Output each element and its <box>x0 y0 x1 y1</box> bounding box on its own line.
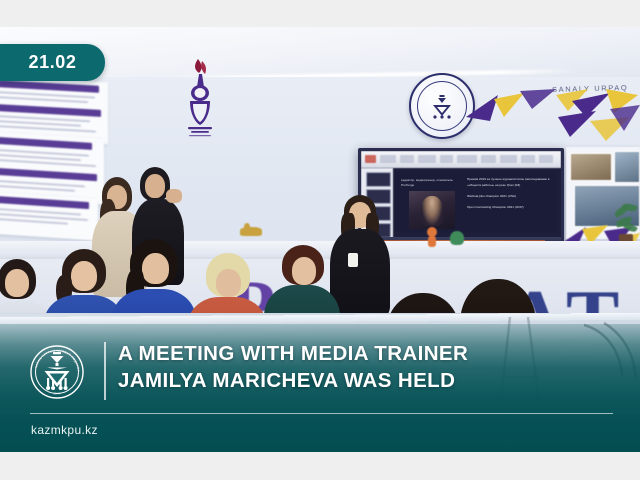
ledge-ornament <box>238 223 264 243</box>
crest-glyph-icon <box>429 94 455 120</box>
date-badge-label: 21.02 <box>28 52 76 73</box>
title-banner: ҚАЗАҚ ҰЛТТЫҚ ҚЫЗДАР ПЕДАГОГИКАЛЫҚ УНИВЕР… <box>0 324 640 452</box>
coffee-cup <box>348 253 358 267</box>
website-url[interactable]: kazmkpu.kz <box>31 423 98 437</box>
svg-text:1944: 1944 <box>54 392 61 396</box>
news-card-image: SANALY URPAQ <box>0 27 640 452</box>
powerpoint-ribbon <box>361 151 561 168</box>
slide-bullets: Премия 2019 за лучшее журналистское расс… <box>467 177 553 216</box>
slide-bullet: Премия 2019 за лучшее журналистское расс… <box>467 177 553 189</box>
slide-portrait-photo <box>409 191 455 229</box>
slide-caption: редактор, медиатренер, основатель ProTen… <box>401 178 461 187</box>
slide-bullet: Webinar.plus champion 2021 (USA) <box>467 194 553 200</box>
page-canvas: SANALY URPAQ <box>0 0 640 480</box>
banner-rule <box>30 413 613 414</box>
page-title: A MEETING WITH MEDIA TRAINER JAMILYA MAR… <box>118 340 618 394</box>
title-line-1: A MEETING WITH MEDIA TRAINER <box>118 340 618 367</box>
wall-decal-flame-icon <box>178 57 222 143</box>
ledge-toy-figure <box>448 229 466 247</box>
title-line-2: JAMILYA MARICHEVA WAS HELD <box>118 367 618 394</box>
slide-bullet: Open Contracting Champion 2021 (OCP) <box>467 205 553 211</box>
wall-poster <box>0 191 98 240</box>
wall-triangle-graphic <box>460 87 640 149</box>
current-slide: редактор, медиатренер, основатель ProTen… <box>395 171 557 232</box>
title-divider <box>104 342 106 400</box>
ledge-toy-figure <box>424 227 440 247</box>
date-badge: 21.02 <box>0 44 105 81</box>
kazmkpu-emblem-icon: ҚАЗАҚ ҰЛТТЫҚ ҚЫЗДАР ПЕДАГОГИКАЛЫҚ УНИВЕР… <box>30 345 84 399</box>
